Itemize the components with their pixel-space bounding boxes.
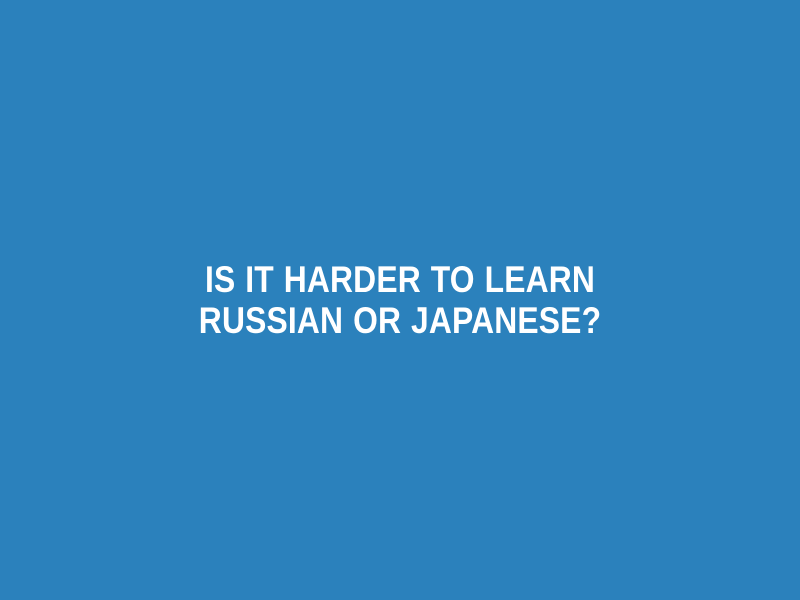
headline-block: Is it Harder to Learn Russian or Japanes… [80, 259, 720, 341]
page-title: Is it Harder to Learn Russian or Japanes… [142, 259, 658, 341]
featured-image-card: Is it Harder to Learn Russian or Japanes… [0, 0, 800, 600]
